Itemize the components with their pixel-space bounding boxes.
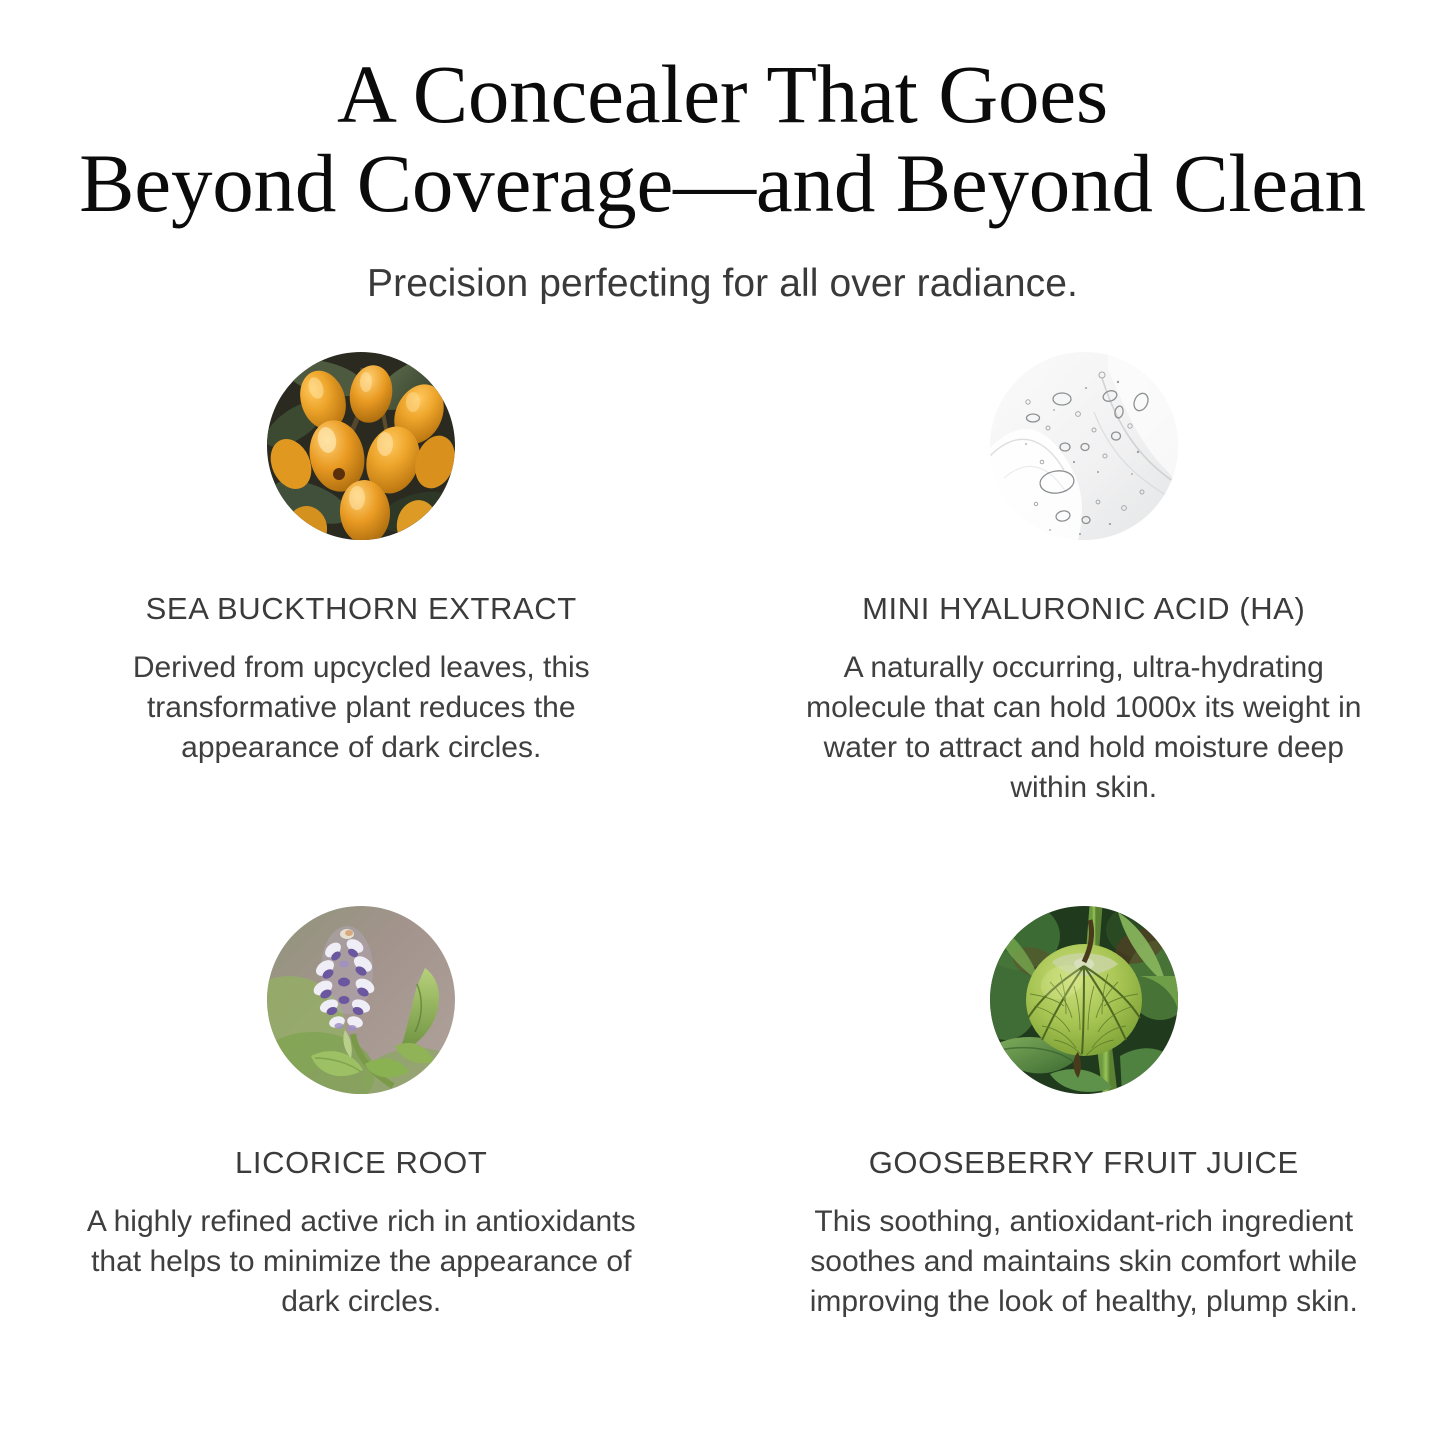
hyaluronic-acid-gel-texture-photo: [990, 352, 1178, 540]
ingredient-grid: SEA BUCKTHORN EXTRACT Derived from upcyc…: [0, 352, 1445, 1321]
ingredient-card-licorice-root: LICORICE ROOT A highly refined active ri…: [0, 906, 723, 1322]
ingredient-description: A highly refined active rich in antioxid…: [81, 1202, 641, 1322]
page-subtitle: Precision perfecting for all over radian…: [0, 261, 1445, 308]
sea-buckthorn-berries-photo: [267, 352, 455, 540]
ingredient-description: A naturally occurring, ultra-hydrating m…: [784, 648, 1384, 808]
ingredient-title: MINI HYALURONIC ACID (HA): [862, 592, 1305, 626]
headline-line-2: Beyond Coverage—and Beyond Clean: [0, 141, 1445, 226]
headline-line-1: A Concealer That Goes: [0, 52, 1445, 137]
ingredient-title: GOOSEBERRY FRUIT JUICE: [869, 1146, 1299, 1180]
page-title: A Concealer That Goes Beyond Coverage—an…: [0, 52, 1445, 225]
page-header: A Concealer That Goes Beyond Coverage—an…: [0, 0, 1445, 308]
ingredient-benefits-page: A Concealer That Goes Beyond Coverage—an…: [0, 0, 1445, 1445]
ingredient-title: SEA BUCKTHORN EXTRACT: [146, 592, 577, 626]
gooseberry-fruit-husk-photo: [990, 906, 1178, 1094]
ingredient-card-sea-buckthorn: SEA BUCKTHORN EXTRACT Derived from upcyc…: [0, 352, 723, 808]
ingredient-card-hyaluronic-acid: MINI HYALURONIC ACID (HA) A naturally oc…: [723, 352, 1445, 808]
ingredient-description: Derived from upcycled leaves, this trans…: [81, 648, 641, 768]
ingredient-title: LICORICE ROOT: [235, 1146, 487, 1180]
licorice-root-flower-photo: [267, 906, 455, 1094]
ingredient-card-gooseberry: GOOSEBERRY FRUIT JUICE This soothing, an…: [723, 906, 1445, 1322]
ingredient-description: This soothing, antioxidant-rich ingredie…: [784, 1202, 1384, 1322]
